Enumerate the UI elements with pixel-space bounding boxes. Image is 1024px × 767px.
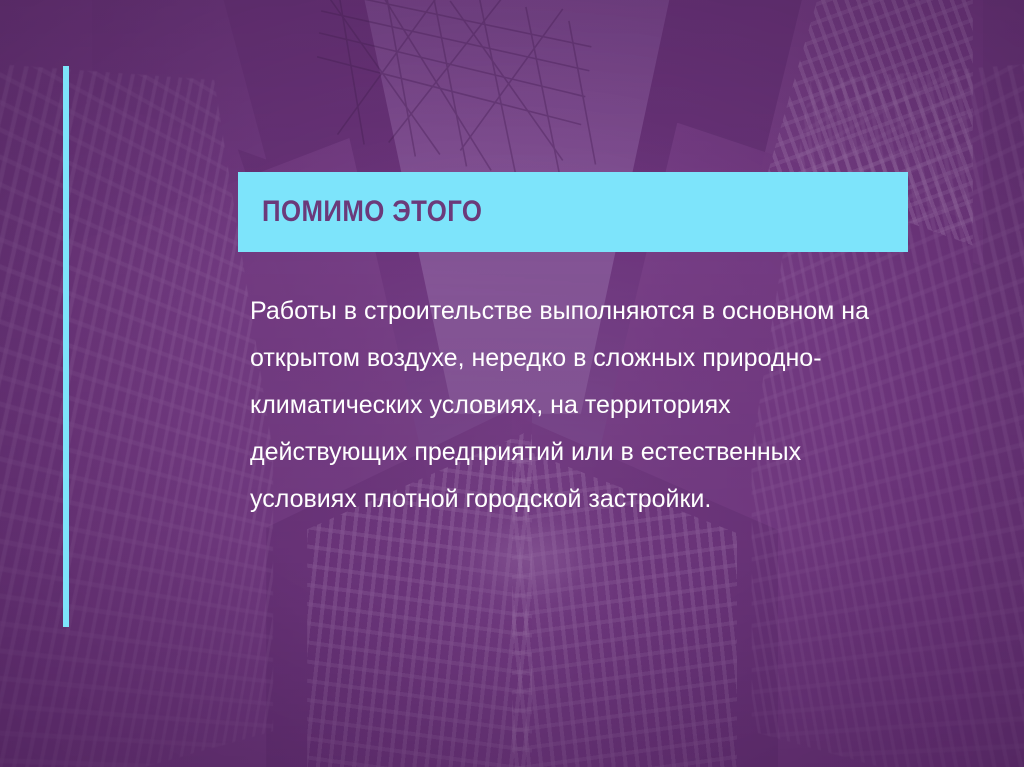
presentation-slide: ПОМИМО ЭТОГО Работы в строительстве выпо… — [0, 0, 1024, 767]
title-banner: ПОМИМО ЭТОГО — [238, 172, 908, 252]
body-paragraph: Работы в строительстве выполняются в осн… — [250, 288, 895, 523]
vertical-accent-bar — [63, 66, 69, 627]
page-title: ПОМИМО ЭТОГО — [262, 195, 482, 229]
body-text-block: Работы в строительстве выполняются в осн… — [250, 288, 895, 523]
